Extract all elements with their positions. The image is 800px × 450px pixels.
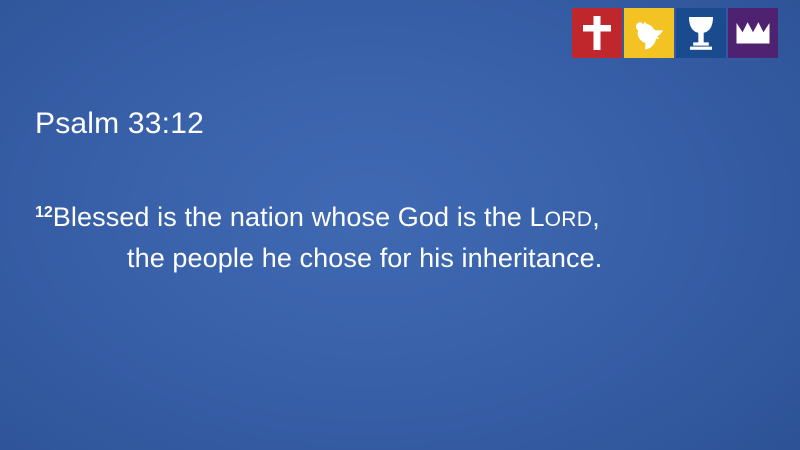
emblem-cross-tile [572, 8, 622, 58]
dove-icon [630, 15, 668, 51]
presentation-slide: Psalm 33:12 12Blessed is the nation whos… [0, 0, 800, 450]
verse-line2: the people he chose for his inheritance. [35, 239, 775, 277]
lord-capital: L [529, 202, 544, 232]
verse-line1-before-lord: Blessed is the nation whose God is the [53, 202, 530, 232]
verse-text: 12Blessed is the nation whose God is the… [35, 194, 775, 277]
cross-icon [580, 14, 614, 52]
chalice-icon [686, 14, 716, 52]
lord-smallcaps: ORD [545, 208, 593, 231]
scripture-reference: Psalm 33:12 [35, 105, 204, 143]
emblem-chalice-tile [676, 8, 726, 58]
verse-line1-after-lord: , [592, 202, 600, 232]
emblem-crown-tile [728, 8, 778, 58]
emblem-strip [572, 8, 778, 58]
verse-number: 12 [35, 204, 53, 221]
crown-icon [735, 21, 771, 45]
emblem-dove-tile [624, 8, 674, 58]
